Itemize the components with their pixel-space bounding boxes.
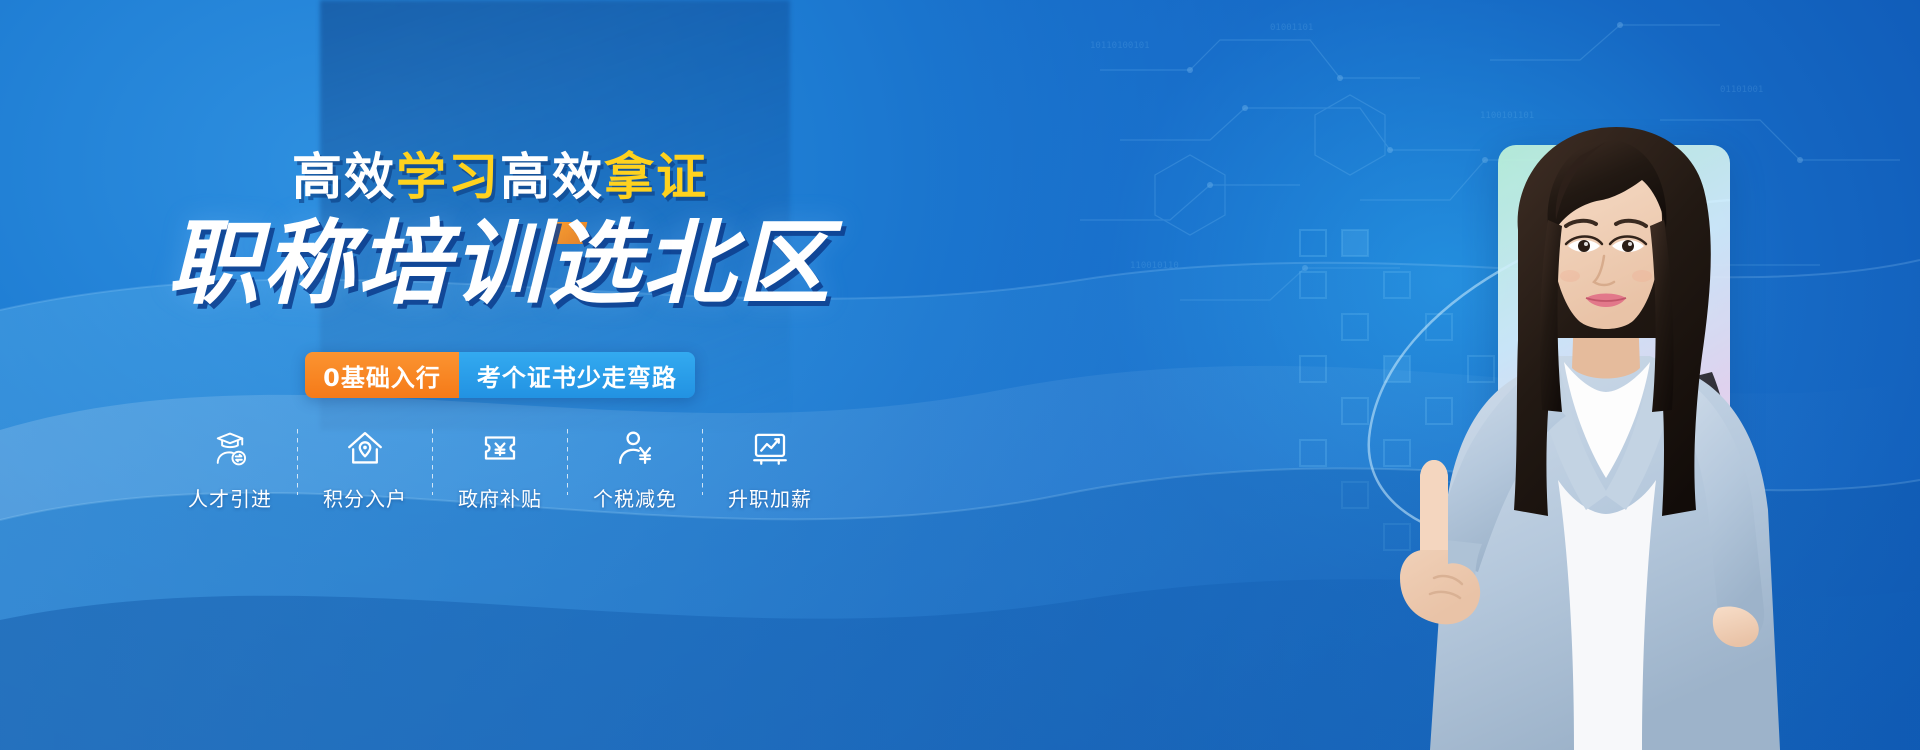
feature-label: 升职加薪 — [728, 483, 812, 512]
badge-right-label: 考个证书少走弯路 — [459, 352, 695, 398]
feature-label: 个税减免 — [593, 483, 677, 512]
headline-main-prefix: 职称培训 — [167, 210, 547, 317]
person-yuan-icon — [612, 425, 658, 471]
headline-sub-seg-4: 拿证 — [604, 148, 708, 206]
feature-item-points-residency[interactable]: 积分入户 — [298, 425, 432, 512]
feature-item-talent-introduction[interactable]: 人才引进 — [163, 425, 297, 512]
feature-label: 人才引进 — [188, 483, 272, 512]
headline-main: 职称培训选北区 — [0, 218, 1000, 310]
feature-list: 人才引进 积分入户 — [0, 425, 1000, 512]
headline-subtitle: 高效学习高效拿证 — [0, 152, 1000, 202]
feature-item-tax-reduction[interactable]: 个税减免 — [568, 425, 702, 512]
tagline-badge[interactable]: 0基础入行 考个证书少走弯路 — [305, 352, 695, 398]
headline-sub-seg-1: 高效 — [292, 148, 396, 206]
growth-chart-icon — [747, 425, 793, 471]
banner-content: 高效学习高效拿证 职称培训选北区 0基础入行 考个证书少走弯路 — [0, 0, 1000, 750]
figure-zone — [1160, 0, 1920, 750]
promo-banner: 10110100101 01001101 1100101101 01101001… — [0, 0, 1920, 750]
feature-item-promotion-raise[interactable]: 升职加薪 — [703, 425, 837, 512]
ticket-yuan-icon — [477, 425, 523, 471]
headline-sub-seg-3: 高效 — [500, 148, 604, 206]
feature-item-government-subsidy[interactable]: 政府补贴 — [433, 425, 567, 512]
svg-text:10110100101: 10110100101 — [1090, 41, 1150, 51]
headline-main-accent-char-wrap: 选 — [547, 218, 642, 310]
house-pin-icon — [342, 425, 388, 471]
instructor-figure-illustration — [1350, 80, 1870, 750]
badge-left-label: 0基础入行 — [305, 352, 459, 398]
tagline-badge-row: 0基础入行 考个证书少走弯路 — [0, 352, 1000, 398]
feature-label: 政府补贴 — [458, 483, 542, 512]
headline-main-suffix: 北区 — [643, 210, 833, 317]
graduate-person-icon — [207, 425, 253, 471]
feature-label: 积分入户 — [323, 483, 407, 512]
headline-sub-seg-2: 学习 — [396, 148, 500, 206]
headline-main-accent-char: 选 — [547, 210, 642, 317]
